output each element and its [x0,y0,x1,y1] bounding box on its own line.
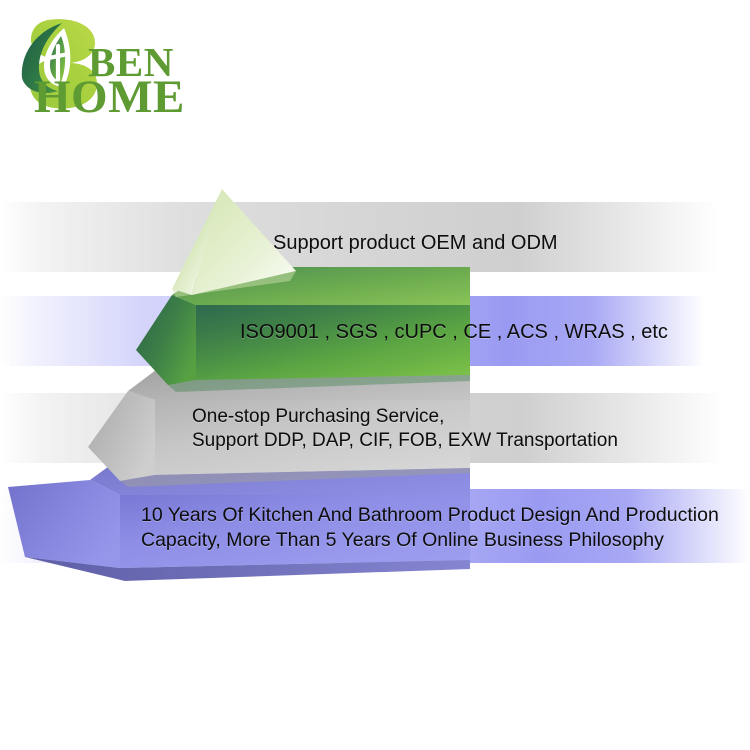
tier-label-1: Support product OEM and ODM [273,231,558,257]
tier-label-4: 10 Years Of Kitchen And Bathroom Product… [141,503,719,553]
logo-word-home: HOME [34,77,238,118]
tier-label-3: One-stop Purchasing Service, Support DDP… [192,405,618,454]
marketing-banner: BEN HOME [0,0,750,750]
tier-label-2: ISO9001 , SGS , cUPC , CE , ACS , WRAS ,… [240,320,668,346]
logo-wordmark: BEN HOME [88,44,238,118]
company-logo: BEN HOME [18,14,238,139]
